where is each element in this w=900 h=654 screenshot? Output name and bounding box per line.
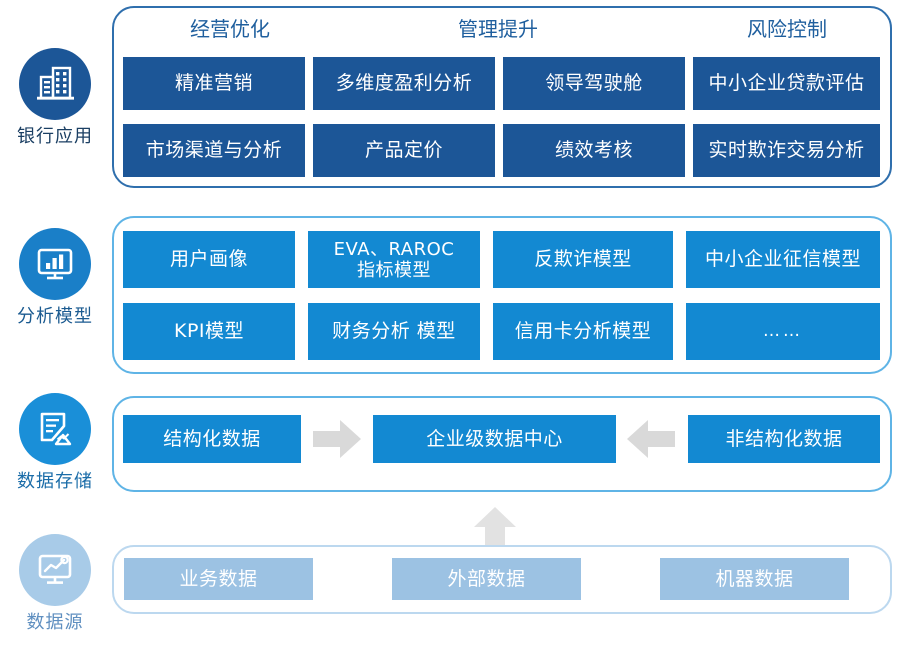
arrow-right-icon [311, 418, 363, 460]
card-bank-app-r2c4[interactable]: 实时欺诈交易分析 [693, 124, 880, 177]
card-bank-app-r2c1[interactable]: 市场渠道与分析 [123, 124, 305, 177]
document-chart-icon-circle [19, 393, 91, 465]
bar-chart-monitor-icon [32, 241, 78, 287]
sidebar-item-label-bank-application: 银行应用 [0, 126, 110, 148]
sidebar-item-label-analysis-model: 分析模型 [0, 306, 110, 328]
card-machine-data[interactable]: 机器数据 [660, 558, 849, 600]
card-analysis-model-r2c3[interactable]: 信用卡分析模型 [493, 303, 673, 360]
arrow-up-icon [472, 505, 518, 549]
card-structured-data[interactable]: 结构化数据 [123, 415, 301, 463]
card-bank-app-r2c2[interactable]: 产品定价 [313, 124, 495, 177]
group-header-management-improvement: 管理提升 [418, 17, 578, 41]
card-business-data[interactable]: 业务数据 [124, 558, 313, 600]
card-external-data[interactable]: 外部数据 [392, 558, 581, 600]
sidebar-item-data-source[interactable]: 数据源 [0, 534, 110, 634]
card-bank-app-r1c2[interactable]: 多维度盈利分析 [313, 57, 495, 110]
card-analysis-model-r2c4[interactable]: …… [686, 303, 880, 360]
sidebar-item-label-data-source: 数据源 [0, 612, 110, 634]
sidebar-item-data-storage[interactable]: 数据存储 [0, 393, 110, 493]
bank-building-icon [32, 61, 78, 107]
card-analysis-model-r1c1[interactable]: 用户画像 [123, 231, 295, 288]
card-unstructured-data[interactable]: 非结构化数据 [688, 415, 880, 463]
bank-building-icon-circle [19, 48, 91, 120]
presentation-trend-icon-circle [19, 534, 91, 606]
card-analysis-model-r2c2[interactable]: 财务分析 模型 [308, 303, 480, 360]
card-analysis-model-r1c3[interactable]: 反欺诈模型 [493, 231, 673, 288]
card-analysis-model-r1c4[interactable]: 中小企业征信模型 [686, 231, 880, 288]
card-enterprise-data-center[interactable]: 企业级数据中心 [373, 415, 616, 463]
architecture-diagram: 银行应用 分析模型 [0, 0, 900, 654]
sidebar-item-analysis-model[interactable]: 分析模型 [0, 228, 110, 328]
sidebar-item-label-data-storage: 数据存储 [0, 471, 110, 493]
group-header-risk-control: 风险控制 [707, 17, 867, 41]
document-chart-icon [32, 406, 78, 452]
card-analysis-model-r2c1[interactable]: KPI模型 [123, 303, 295, 360]
card-bank-app-r1c3[interactable]: 领导驾驶舱 [503, 57, 685, 110]
card-bank-app-r2c3[interactable]: 绩效考核 [503, 124, 685, 177]
sidebar-item-bank-application[interactable]: 银行应用 [0, 48, 110, 148]
card-bank-app-r1c4[interactable]: 中小企业贷款评估 [693, 57, 880, 110]
card-bank-app-r1c1[interactable]: 精准营销 [123, 57, 305, 110]
card-analysis-model-r1c2[interactable]: EVA、RAROC 指标模型 [308, 231, 480, 288]
arrow-left-icon [625, 418, 677, 460]
group-header-operation-optimization: 经营优化 [150, 17, 310, 41]
presentation-trend-icon [32, 547, 78, 593]
bar-chart-monitor-icon-circle [19, 228, 91, 300]
